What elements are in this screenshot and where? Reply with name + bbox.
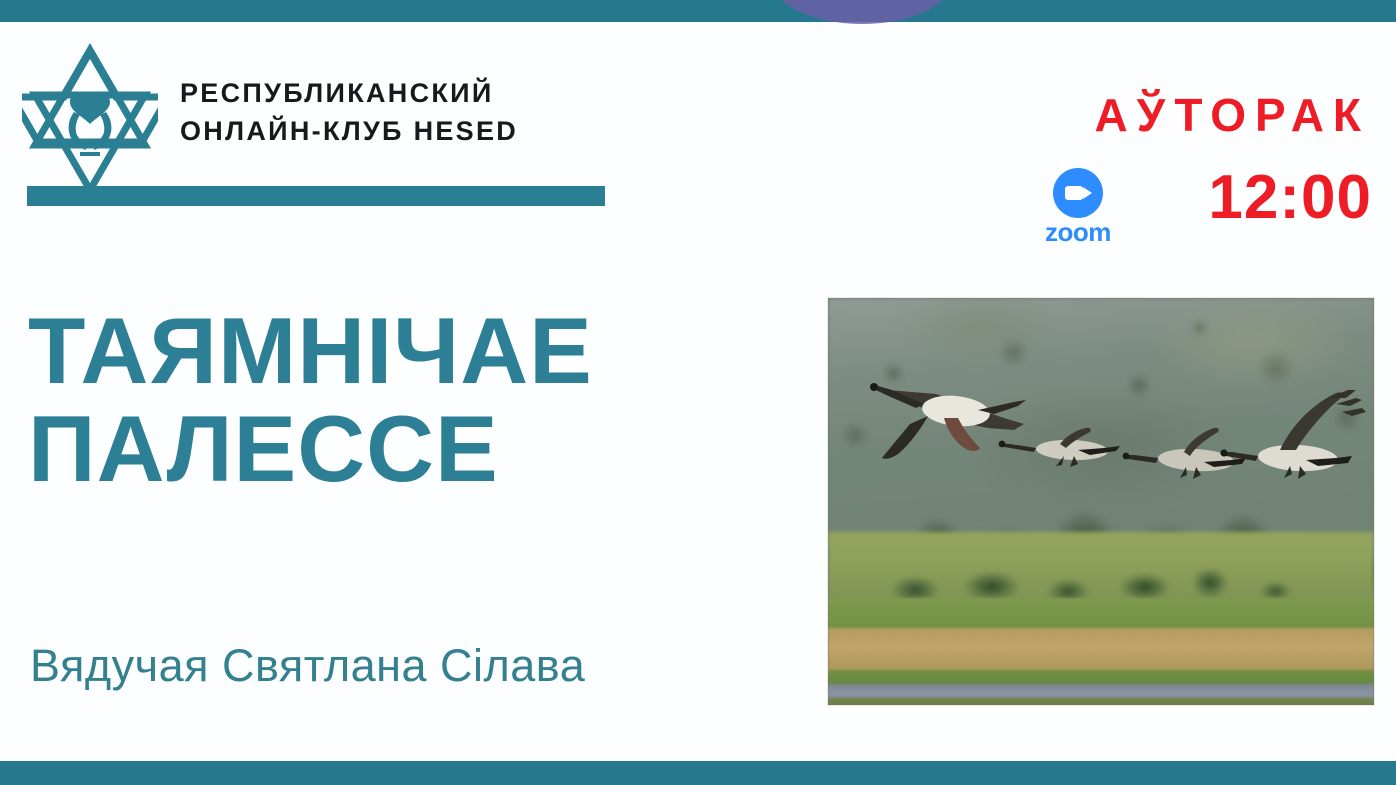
zoom-video-camera-icon [1053,168,1103,218]
logo-wordmark: РЕСПУБЛИКАНСКИЙ ОНЛАЙН-КЛУБ HESED [180,74,518,150]
camera-body-shape [1065,186,1083,200]
logo-line-1: РЕСПУБЛИКАНСКИЙ [180,74,518,112]
start-time-label: 12:00 [1208,167,1372,229]
crane-4 [1220,390,1366,479]
crane-2 [999,428,1120,467]
zoom-wordmark: zoom [1036,219,1120,245]
host-label: Вядучая Святлана Сілава [30,640,585,692]
photo-cranes-group [828,298,1374,705]
zoom-platform-logo: zoom [1036,168,1120,244]
page-title: ТАЯМНІЧАЕ ПАЛЕССЕ [28,302,748,498]
weekday-label: АЎТОРАК [1094,88,1370,142]
title-line-2: ПАЛЕССЕ [28,400,748,498]
bottom-accent-bar [0,761,1396,785]
crane-1 [870,383,1026,459]
title-line-1: ТАЯМНІЧАЕ [28,302,748,400]
event-announcement-poster: РЕСПУБЛИКАНСКИЙ ОНЛАЙН-КЛУБ HESED АЎТОРА… [0,0,1396,785]
logo-line-2: ОНЛАЙН-КЛУБ HESED [180,112,518,150]
star-of-david-heart-hands-icon [22,42,158,194]
top-accent-bar [0,0,1396,22]
cranes-photo [828,298,1374,705]
